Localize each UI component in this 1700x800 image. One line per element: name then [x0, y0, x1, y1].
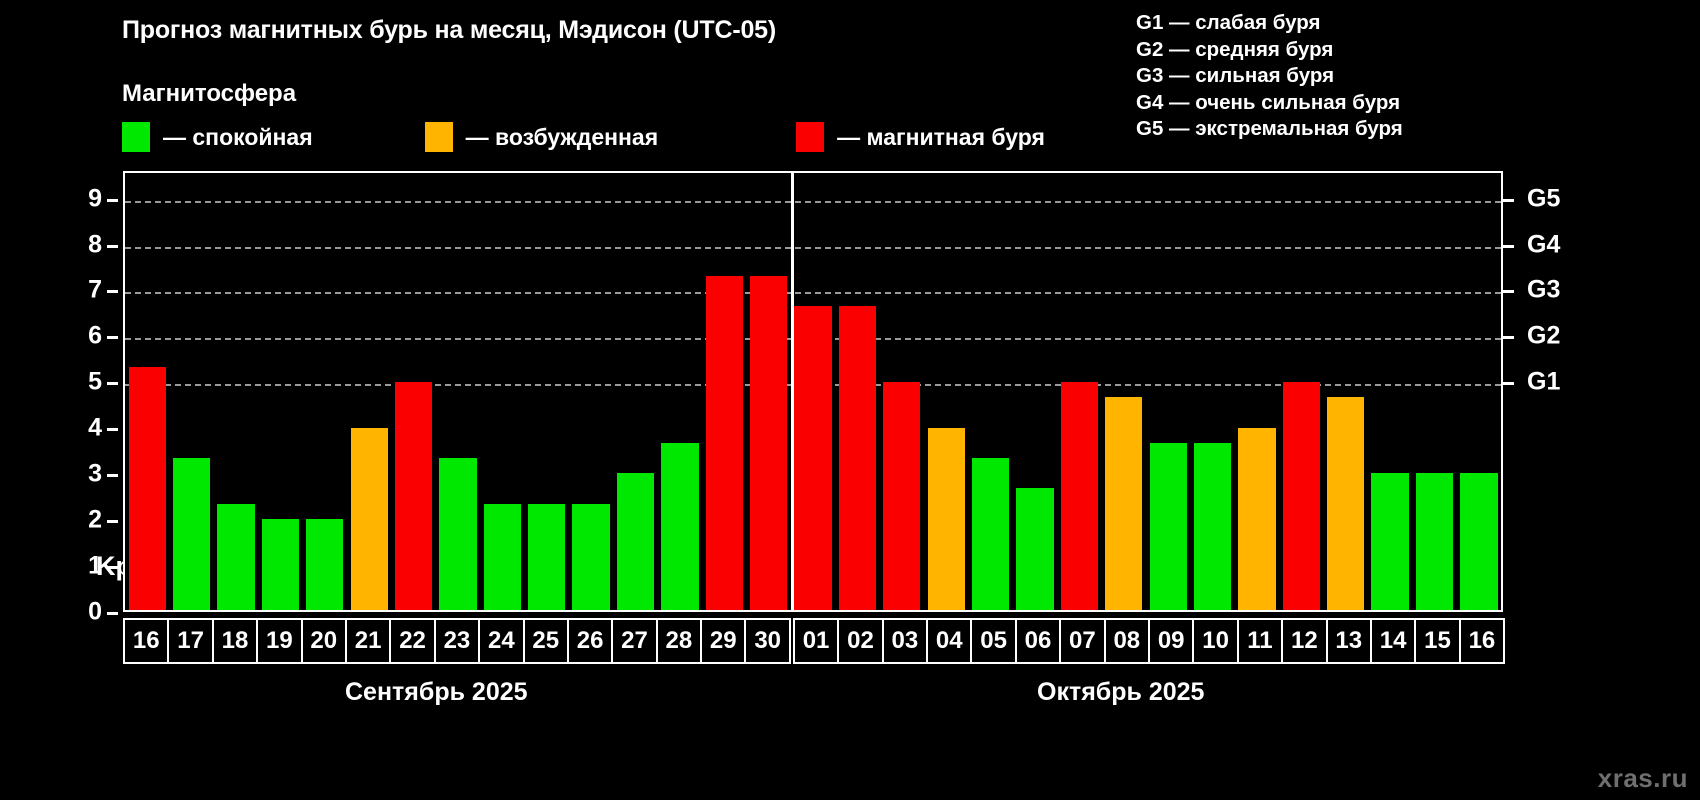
date-cell[interactable]: 02 — [837, 618, 883, 664]
bar[interactable] — [1016, 488, 1053, 610]
bar-slot — [303, 173, 347, 610]
bar-slot — [1324, 173, 1368, 610]
bar-slot — [702, 173, 746, 610]
y-axis-gscale: G1G2G3G4G5 — [1503, 171, 1583, 612]
g-tick-mark-G5 — [1503, 199, 1514, 202]
bar[interactable] — [706, 276, 743, 610]
bar[interactable] — [1371, 473, 1408, 610]
g-tick-mark-G1 — [1503, 382, 1514, 385]
bar[interactable] — [1238, 428, 1275, 610]
gscale-legend-line-4: G4 — очень сильная буря — [1136, 90, 1403, 117]
g-tick-label-G3: G3 — [1527, 278, 1560, 303]
date-cell[interactable]: 25 — [523, 618, 569, 664]
bar[interactable] — [173, 458, 210, 610]
date-cell[interactable]: 16 — [123, 618, 169, 664]
bar-slot — [347, 173, 391, 610]
magnetosphere-heading: Магнитосфера — [122, 80, 296, 108]
date-cell[interactable]: 21 — [345, 618, 391, 664]
bar-slot — [391, 173, 435, 610]
bar[interactable] — [351, 428, 388, 610]
date-cell[interactable]: 10 — [1192, 618, 1238, 664]
bar[interactable] — [1283, 382, 1320, 610]
month-separator-line — [791, 173, 794, 610]
date-cell[interactable]: 16 — [1459, 618, 1505, 664]
g-tick-mark-G2 — [1503, 336, 1514, 339]
legend-swatch-icon-2 — [796, 122, 824, 152]
bar[interactable] — [1061, 382, 1098, 610]
bar-series — [125, 173, 1501, 610]
gscale-legend: G1 — слабая буряG2 — средняя буряG3 — си… — [1136, 10, 1403, 143]
legend-entry-2: — магнитная буря — [796, 120, 1045, 154]
legend-label-2: — магнитная буря — [837, 124, 1045, 151]
date-cell[interactable]: 19 — [256, 618, 302, 664]
date-cell[interactable]: 29 — [700, 618, 746, 664]
y-tick-label-8: 8 — [88, 232, 102, 257]
y-tick-label-4: 4 — [88, 416, 102, 441]
date-cell[interactable]: 01 — [793, 618, 839, 664]
bar-slot — [125, 173, 169, 610]
y-tick-mark-5 — [107, 382, 118, 385]
g-tick-label-G4: G4 — [1527, 232, 1560, 257]
month-caption-september: Сентябрь 2025 — [345, 678, 528, 707]
bar-slot — [436, 173, 480, 610]
bar-slot — [791, 173, 835, 610]
date-cell[interactable]: 28 — [656, 618, 702, 664]
gscale-legend-line-3: G3 — сильная буря — [1136, 63, 1403, 90]
date-cell[interactable]: 26 — [567, 618, 613, 664]
plot-area — [123, 171, 1503, 612]
bar-slot — [746, 173, 790, 610]
y-tick-mark-1 — [107, 566, 118, 569]
date-cell[interactable]: 15 — [1414, 618, 1460, 664]
bar[interactable] — [1327, 397, 1364, 610]
bar[interactable] — [1416, 473, 1453, 610]
bar[interactable] — [661, 443, 698, 610]
y-axis-kp: Kp 0123456789 — [60, 171, 118, 612]
date-cell[interactable]: 07 — [1059, 618, 1105, 664]
x-axis-date-labels: 1617181920212223242526272829300102030405… — [123, 618, 1503, 664]
bar-slot — [525, 173, 569, 610]
bar-slot — [1279, 173, 1323, 610]
bar-slot — [1190, 173, 1234, 610]
bar[interactable] — [528, 504, 565, 610]
g-tick-mark-G4 — [1503, 245, 1514, 248]
bar[interactable] — [1460, 473, 1497, 610]
legend-swatch-icon-1 — [425, 122, 453, 152]
bar[interactable] — [839, 306, 876, 610]
date-cell[interactable]: 04 — [926, 618, 972, 664]
watermark: xras.ru — [1598, 763, 1688, 794]
date-cell[interactable]: 05 — [970, 618, 1016, 664]
bar-slot — [1235, 173, 1279, 610]
bar-slot — [613, 173, 657, 610]
date-cell[interactable]: 03 — [882, 618, 928, 664]
date-cell[interactable]: 23 — [434, 618, 480, 664]
date-cell[interactable]: 09 — [1148, 618, 1194, 664]
date-cell[interactable]: 20 — [301, 618, 347, 664]
bar-slot — [258, 173, 302, 610]
y-tick-label-6: 6 — [88, 324, 102, 349]
bar[interactable] — [794, 306, 831, 610]
y-tick-mark-3 — [107, 474, 118, 477]
bar[interactable] — [1150, 443, 1187, 610]
y-tick-label-5: 5 — [88, 370, 102, 395]
bar[interactable] — [1194, 443, 1231, 610]
date-cell[interactable]: 08 — [1104, 618, 1150, 664]
date-cell[interactable]: 11 — [1237, 618, 1283, 664]
bar-slot — [1057, 173, 1101, 610]
bar-slot — [880, 173, 924, 610]
bar[interactable] — [928, 428, 965, 610]
y-tick-mark-0 — [107, 612, 118, 615]
g-tick-label-G5: G5 — [1527, 186, 1560, 211]
gscale-legend-line-2: G2 — средняя буря — [1136, 37, 1403, 64]
bar[interactable] — [572, 504, 609, 610]
bar[interactable] — [129, 367, 166, 610]
bar[interactable] — [617, 473, 654, 610]
bar[interactable] — [439, 458, 476, 610]
bar[interactable] — [484, 504, 521, 610]
bar-slot — [480, 173, 524, 610]
date-cell[interactable]: 27 — [611, 618, 657, 664]
bar-slot — [1457, 173, 1501, 610]
date-cell[interactable]: 12 — [1281, 618, 1327, 664]
y-tick-mark-7 — [107, 290, 118, 293]
bar-slot — [569, 173, 613, 610]
date-cell[interactable]: 06 — [1015, 618, 1061, 664]
legend-label-1: — возбужденная — [466, 124, 659, 151]
y-tick-label-7: 7 — [88, 278, 102, 303]
y-tick-mark-2 — [107, 520, 118, 523]
bar-slot — [1412, 173, 1456, 610]
date-cell[interactable]: 14 — [1370, 618, 1416, 664]
legend-swatch-icon-0 — [122, 122, 150, 152]
g-tick-mark-G3 — [1503, 290, 1514, 293]
bar[interactable] — [1105, 397, 1142, 610]
bar-slot — [835, 173, 879, 610]
legend-label-0: — спокойная — [163, 124, 313, 151]
y-tick-mark-9 — [107, 199, 118, 202]
bar[interactable] — [750, 276, 787, 610]
date-cell[interactable]: 24 — [478, 618, 524, 664]
plot-inner — [125, 173, 1501, 610]
bar-slot — [1102, 173, 1146, 610]
date-cell[interactable]: 13 — [1326, 618, 1372, 664]
bar-slot — [1013, 173, 1057, 610]
bar-slot — [214, 173, 258, 610]
month-caption-october: Октябрь 2025 — [1037, 678, 1204, 707]
date-cell[interactable]: 17 — [167, 618, 213, 664]
legend-entry-0: — спокойная — [122, 120, 313, 154]
legend-entry-1: — возбужденная — [425, 120, 659, 154]
g-tick-label-G2: G2 — [1527, 324, 1560, 349]
bar-slot — [968, 173, 1012, 610]
g-tick-label-G1: G1 — [1527, 370, 1560, 395]
bar-slot — [924, 173, 968, 610]
bar-slot — [1146, 173, 1190, 610]
bar-slot — [658, 173, 702, 610]
y-tick-mark-8 — [107, 245, 118, 248]
bar[interactable] — [395, 382, 432, 610]
bar[interactable] — [262, 519, 299, 610]
bar-slot — [1368, 173, 1412, 610]
page-title: Прогноз магнитных бурь на месяц, Мэдисон… — [122, 16, 776, 45]
bar[interactable] — [217, 504, 254, 610]
y-tick-label-9: 9 — [88, 186, 102, 211]
bar[interactable] — [972, 458, 1009, 610]
y-tick-label-1: 1 — [88, 554, 102, 579]
y-tick-mark-4 — [107, 428, 118, 431]
bar-slot — [169, 173, 213, 610]
y-tick-label-3: 3 — [88, 462, 102, 487]
y-tick-label-0: 0 — [88, 600, 102, 625]
gscale-legend-line-1: G1 — слабая буря — [1136, 10, 1403, 37]
date-cell[interactable]: 22 — [389, 618, 435, 664]
date-cell[interactable]: 18 — [212, 618, 258, 664]
y-tick-mark-6 — [107, 336, 118, 339]
gscale-legend-line-5: G5 — экстремальная буря — [1136, 116, 1403, 143]
y-tick-label-2: 2 — [88, 508, 102, 533]
bar[interactable] — [306, 519, 343, 610]
date-cell[interactable]: 30 — [744, 618, 790, 664]
bar[interactable] — [883, 382, 920, 610]
magnetosphere-legend: — спокойная— возбужденная— магнитная бур… — [122, 120, 1045, 154]
